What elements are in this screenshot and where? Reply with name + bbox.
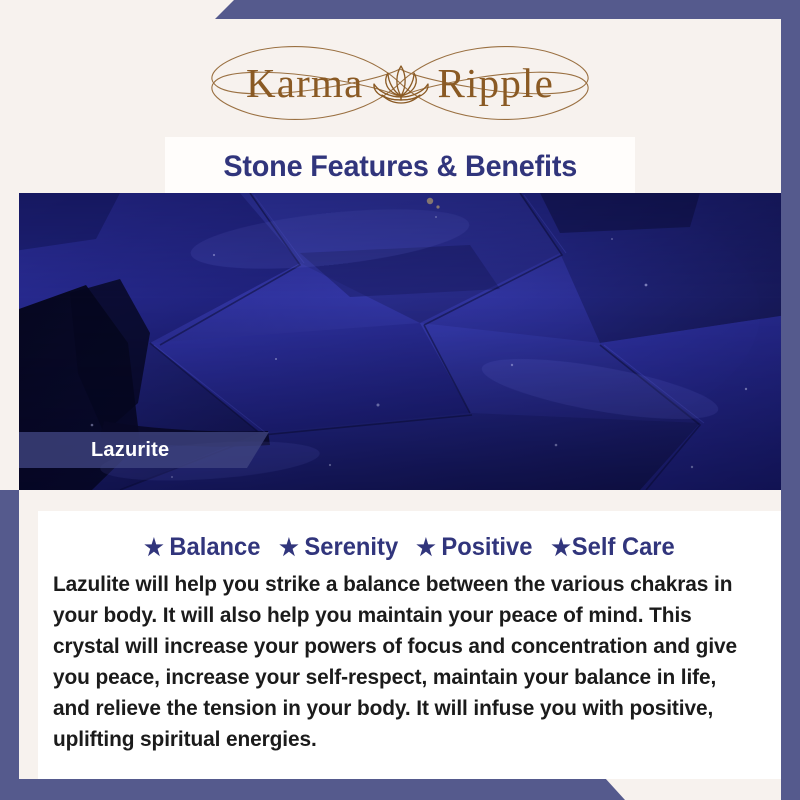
brand-words: Karma Ripple bbox=[246, 60, 554, 106]
benefits-row: ★ Balance ★ Serenity ★ Positive ★ Self C… bbox=[38, 533, 781, 562]
star-icon: ★ bbox=[551, 536, 571, 559]
star-icon: ★ bbox=[416, 536, 436, 559]
benefit-label: Balance bbox=[170, 533, 261, 562]
benefit-item-balance: ★ Balance bbox=[144, 533, 260, 562]
benefit-label: Self Care bbox=[571, 533, 674, 562]
brand-lockup: Karma Ripple bbox=[180, 35, 620, 131]
brand-word-right: Ripple bbox=[438, 63, 555, 104]
star-icon: ★ bbox=[279, 536, 299, 559]
decor-top-band bbox=[215, 0, 800, 19]
benefit-label: Serenity bbox=[304, 533, 398, 562]
stone-name-label: Lazurite bbox=[91, 439, 169, 462]
photo-gap-spacer bbox=[19, 490, 781, 511]
decor-bottom-band bbox=[0, 778, 625, 800]
benefit-label: Positive bbox=[441, 533, 532, 562]
stone-photo: Lazurite bbox=[19, 193, 781, 490]
headline-panel: Stone Features & Benefits bbox=[165, 137, 635, 197]
benefits-card: ★ Balance ★ Serenity ★ Positive ★ Self C… bbox=[38, 511, 781, 779]
page-title: Stone Features & Benefits bbox=[223, 150, 577, 184]
benefit-item-serenity: ★ Serenity bbox=[279, 533, 398, 562]
poster-canvas: Karma Ripple bbox=[0, 0, 800, 800]
lotus-icon bbox=[370, 60, 432, 106]
brand-header: Karma Ripple bbox=[19, 35, 781, 131]
content-card: Karma Ripple bbox=[19, 19, 781, 779]
decor-right-strip bbox=[781, 0, 800, 800]
benefit-item-positive: ★ Positive bbox=[416, 533, 532, 562]
stone-name-banner: Lazurite bbox=[19, 432, 269, 468]
decor-left-strip bbox=[0, 490, 19, 785]
stone-description: Lazulite will help you strike a balance … bbox=[53, 569, 747, 755]
star-icon: ★ bbox=[144, 536, 164, 559]
brand-word-left: Karma bbox=[246, 63, 364, 104]
benefit-item-self-care: ★ Self Care bbox=[551, 533, 675, 562]
